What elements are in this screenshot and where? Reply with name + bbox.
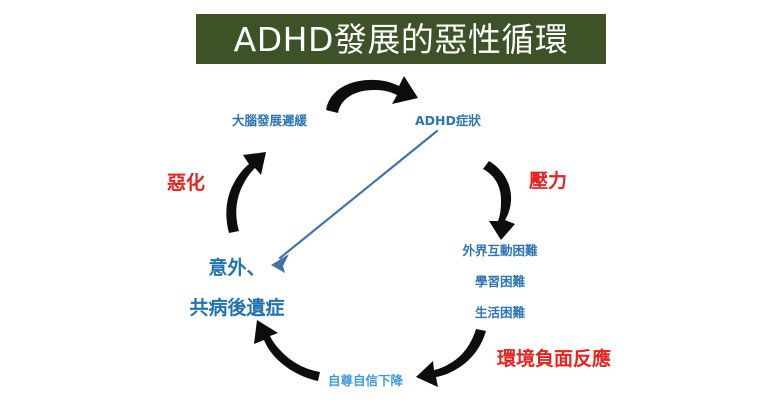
arrow-accidents-to-brain-icon [226, 152, 266, 233]
node-difficulties: 外界互動困難 學習困難 生活困難 [455, 242, 545, 322]
page-title: ADHD發展的惡性循環 [234, 23, 569, 56]
arrow-brain-to-adhd-icon [326, 76, 418, 113]
node-self-esteem-drop-line-1: 自尊自信下降 [328, 372, 403, 390]
node-difficulties-line-3: 生活困難 [455, 304, 545, 322]
stage-label-negative-response: 環境負面反應 [497, 350, 611, 369]
node-brain-delay-line-1: 大腦發展遲緩 [232, 112, 307, 130]
stage-label-worsening: 惡化 [167, 174, 205, 193]
arrow-adhd-to-difficulties-icon [483, 161, 515, 240]
node-difficulties-line-1: 外界互動困難 [455, 242, 545, 260]
arrow-difficulties-to-self-icon [416, 329, 486, 387]
node-adhd-symptoms: ADHD症狀 [415, 112, 481, 130]
node-brain-delay: 大腦發展遲緩 [232, 112, 307, 130]
node-adhd-symptoms-line-1: ADHD症狀 [415, 112, 481, 130]
diagram-canvas: ADHD發展的惡性循環 大腦發展遲緩 [0, 0, 768, 418]
node-accidents-line-1: 意外、 [172, 255, 302, 283]
node-accidents-line-2: 共病後遺症 [172, 295, 302, 323]
node-accidents-comorbidity: 意外、 共病後遺症 [172, 255, 302, 322]
title-banner: ADHD發展的惡性循環 [196, 14, 606, 64]
stage-label-stress: 壓力 [529, 172, 567, 191]
node-self-esteem-drop: 自尊自信下降 [328, 372, 403, 390]
arrow-adhd-feedback-icon [271, 131, 437, 273]
arrow-self-to-accidents-icon [254, 320, 320, 381]
node-difficulties-line-2: 學習困難 [455, 273, 545, 291]
